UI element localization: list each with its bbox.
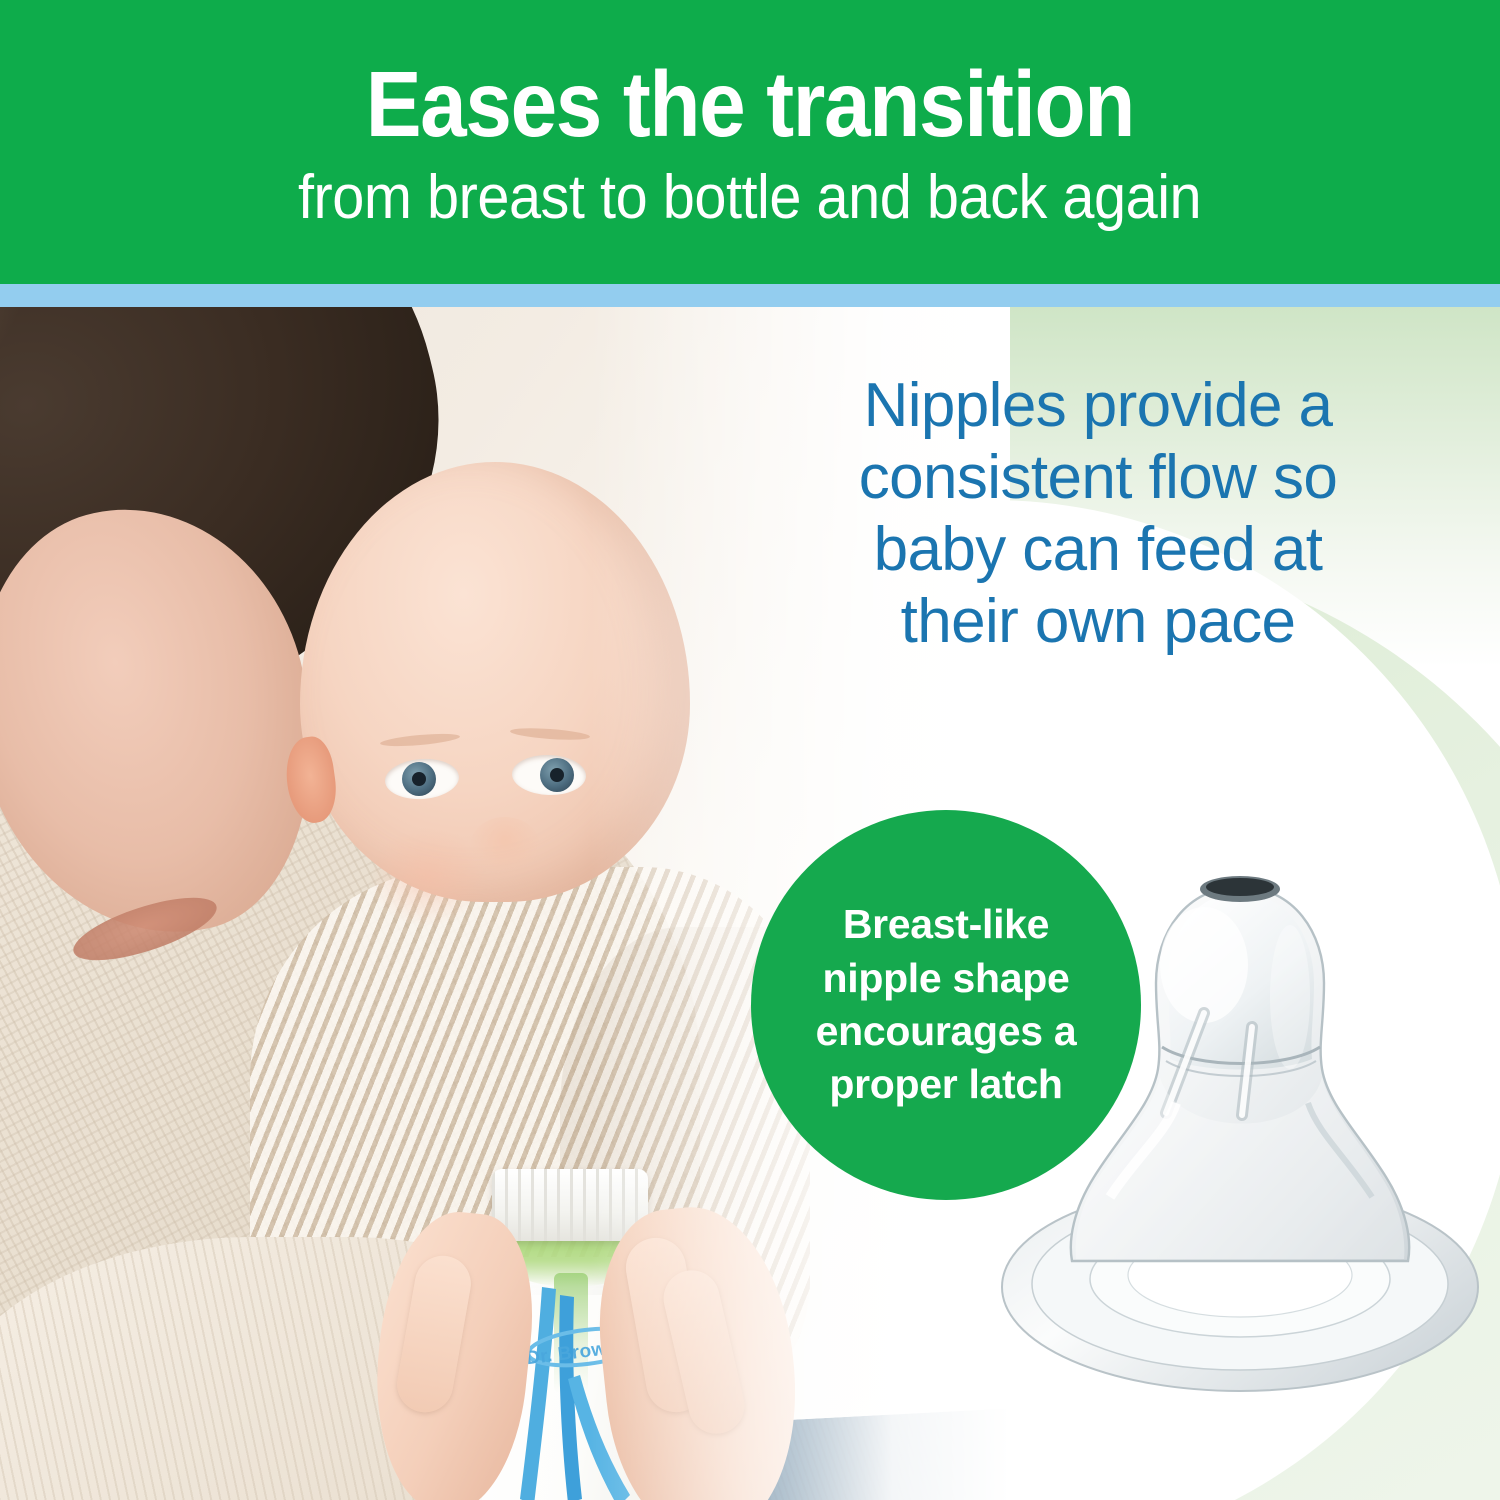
page-subtitle: from breast to bottle and back again	[298, 165, 1201, 230]
baby-pupil-left	[412, 772, 426, 786]
badge-line-2: nipple shape	[816, 952, 1077, 1005]
copy-line-3: baby can feed at	[748, 514, 1448, 586]
header-divider-rule	[0, 284, 1500, 307]
badge-line-4: proper latch	[816, 1058, 1077, 1111]
badge-line-3: encourages a	[816, 1005, 1077, 1058]
copy-line-4: their own pace	[748, 586, 1448, 658]
badge-line-1: Breast-like	[816, 898, 1077, 951]
feature-copy-block: Nipples provide a consistent flow so bab…	[748, 370, 1448, 658]
hair-highlight	[0, 307, 82, 473]
baby-pupil-right	[550, 768, 564, 782]
copy-line-1: Nipples provide a	[748, 370, 1448, 442]
page-title: Eases the transition	[366, 58, 1134, 151]
baby-nose	[470, 817, 540, 875]
badge-text-block: Breast-like nipple shape encourages a pr…	[794, 898, 1099, 1111]
copy-line-2: consistent flow so	[748, 442, 1448, 514]
main-stage: Dr. Brown's Nipples provide a consistent…	[0, 307, 1500, 1500]
advertisement-page: Eases the transition from breast to bott…	[0, 0, 1500, 1500]
header-banner: Eases the transition from breast to bott…	[0, 0, 1500, 284]
feature-badge-circle: Breast-like nipple shape encourages a pr…	[751, 810, 1141, 1200]
